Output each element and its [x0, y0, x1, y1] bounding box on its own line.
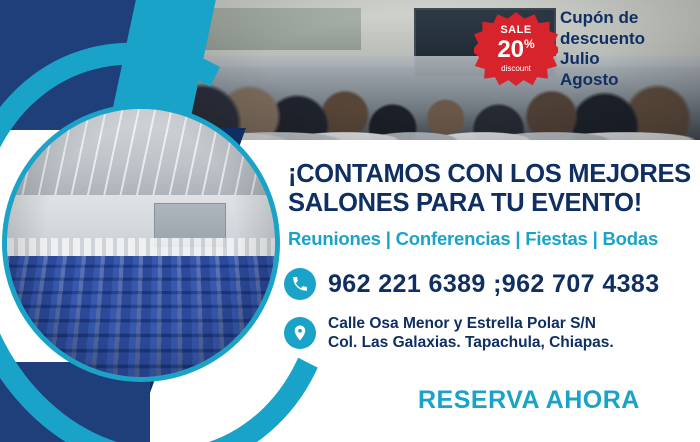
cta-text: RESERVA AHORA	[418, 386, 640, 415]
coupon-line-4: Agosto	[560, 70, 696, 91]
coupon-line-1: Cupón de	[560, 8, 696, 29]
phone-number: 962 221 6389 ;962 707 4383	[328, 270, 660, 299]
headline-line-1: ¡CONTAMOS CON LOS MEJORES	[288, 160, 692, 189]
coupon-line-2: descuento	[560, 29, 696, 50]
sale-badge-text: SALE 20% discount	[474, 12, 558, 73]
coupon-line-3: Julio	[560, 49, 696, 70]
event-hall-photo	[2, 104, 280, 382]
coupon-heading: Cupón de descuento Julio Agosto	[560, 8, 696, 91]
address-line-1: Calle Osa Menor y Estrella Polar S/N	[328, 315, 596, 332]
address-row: Calle Osa Menor y Estrella Polar S/N Col…	[284, 314, 614, 353]
headline-line-2: SALONES PARA TU EVENTO!	[288, 189, 692, 218]
sale-discount-label: discount	[474, 65, 558, 73]
sale-percent-number: 20	[497, 36, 524, 63]
sale-label: SALE	[474, 25, 558, 36]
sale-badge: SALE 20% discount	[474, 12, 558, 86]
phone-icon	[284, 268, 316, 300]
promo-poster: SALE 20% discount Cupón de descuento Jul…	[0, 0, 700, 442]
phone-row: 962 221 6389 ;962 707 4383	[284, 268, 660, 300]
headline: ¡CONTAMOS CON LOS MEJORES SALONES PARA T…	[288, 160, 692, 217]
hall-vignette	[7, 109, 275, 377]
address-line-2: Col. Las Galaxias. Tapachula, Chiapas.	[328, 334, 614, 351]
sale-percent: 20%	[474, 38, 558, 62]
address-text: Calle Osa Menor y Estrella Polar S/N Col…	[328, 314, 614, 353]
sale-percent-symbol: %	[524, 37, 535, 51]
location-pin-icon	[284, 317, 316, 349]
services-list: Reuniones | Conferencias | Fiestas | Bod…	[288, 228, 698, 250]
